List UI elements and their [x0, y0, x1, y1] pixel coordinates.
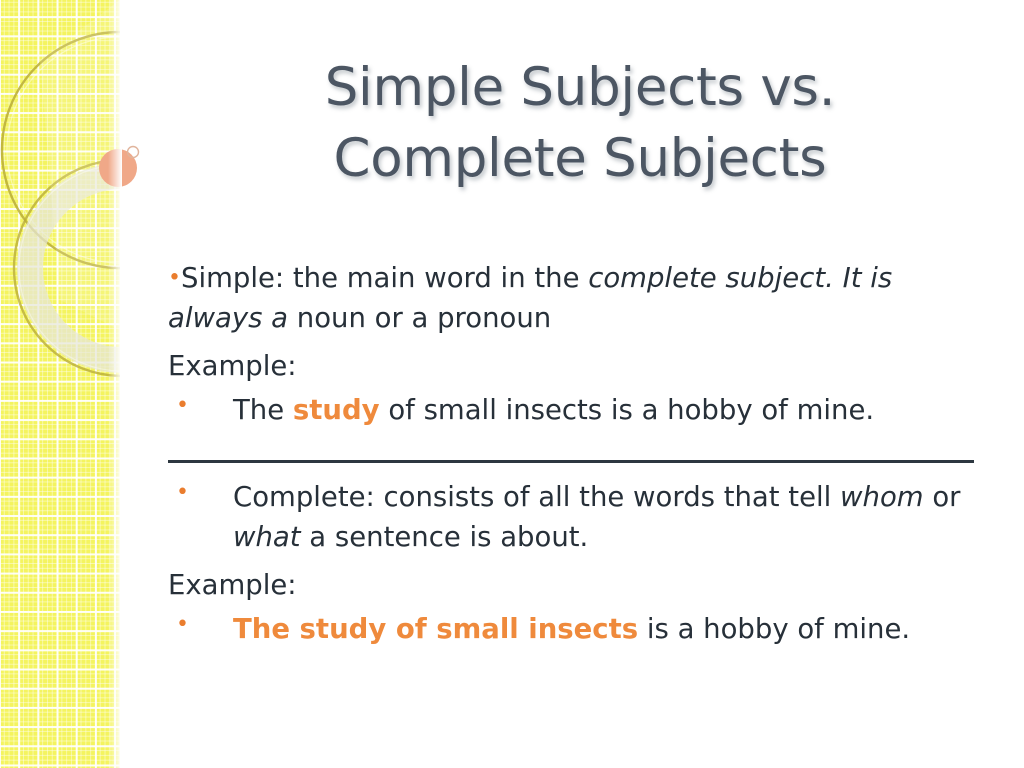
example-label-2: Example:	[168, 565, 984, 605]
small-outline-circle-decoration	[128, 147, 139, 158]
example-2-after: is a hobby of mine.	[638, 613, 910, 645]
bullet-icon: •	[176, 390, 189, 422]
complete-text-part-2: or	[924, 481, 961, 513]
complete-text-part-1: Complete: consists of all the words that…	[233, 481, 840, 513]
divider-rule	[168, 460, 974, 463]
complete-text-part-3: a sentence is about.	[301, 521, 589, 553]
title-line-2: Complete Subjects	[170, 123, 990, 194]
complete-text-italic-2: what	[233, 521, 301, 553]
list-item-example-2: •The study of small insects is a hobby o…	[168, 609, 984, 649]
title-block: Simple Subjects vs. Complete Subjects	[170, 52, 990, 194]
body-content: •Simple: the main word in the complete s…	[168, 258, 984, 651]
lead-text-part-2: noun or a pronoun	[288, 302, 551, 334]
decorative-left-band	[0, 0, 120, 768]
example-2-accent: The study of small insects	[233, 613, 638, 645]
lead-text-part-1: Simple: the main word in the	[181, 262, 588, 294]
bullet-icon: •	[176, 477, 189, 509]
title-line-1: Simple Subjects vs.	[170, 52, 990, 123]
list-item-example-1: •The study of small insects is a hobby o…	[168, 390, 984, 430]
example-label-1: Example:	[168, 346, 984, 386]
list-item-complete: •Complete: consists of all the words tha…	[168, 477, 984, 557]
complete-text-italic-1: whom	[840, 481, 924, 513]
lead-paragraph: •Simple: the main word in the complete s…	[168, 258, 984, 338]
example-1-accent: study	[293, 394, 380, 426]
bullet-icon: •	[176, 609, 189, 641]
bullet-icon: •	[168, 265, 181, 290]
slide-canvas: Simple Subjects vs. Complete Subjects •S…	[0, 0, 1024, 768]
example-1-before: The	[233, 394, 293, 426]
section-divider	[168, 441, 984, 471]
page-title: Simple Subjects vs. Complete Subjects	[170, 52, 990, 194]
band-edge-fade	[108, 0, 122, 768]
example-1-after: of small insects is a hobby of mine.	[380, 394, 875, 426]
